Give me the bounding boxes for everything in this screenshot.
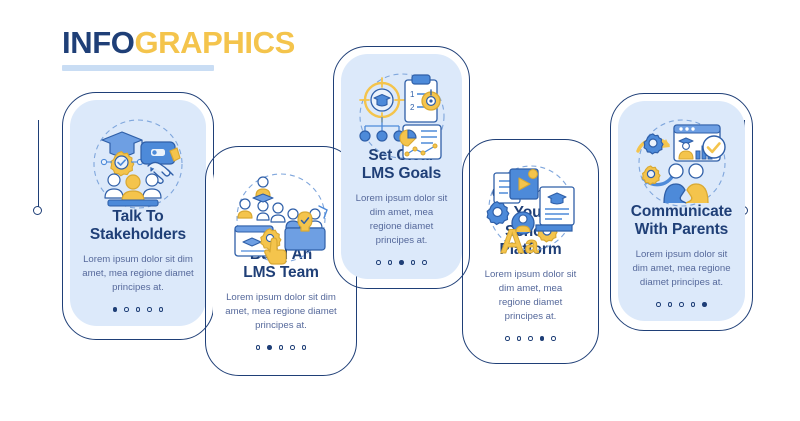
page-title: INFOGRAPHICS — [62, 27, 295, 71]
card-inner: 1 2 — [341, 54, 462, 279]
progress-dot[interactable] — [302, 345, 307, 350]
progress-dot[interactable] — [656, 302, 661, 307]
progress-dot[interactable] — [136, 307, 141, 312]
user-avatar-icon — [256, 177, 270, 196]
progress-dot[interactable] — [505, 336, 510, 341]
progress-dot[interactable] — [411, 260, 416, 265]
progress-dots-3[interactable] — [376, 260, 427, 265]
svg-text:1: 1 — [410, 90, 415, 99]
people-group-icon — [105, 174, 161, 206]
connector-left — [32, 120, 52, 230]
progress-dots-2[interactable] — [256, 345, 307, 350]
progress-dot[interactable] — [679, 302, 684, 307]
progress-dots-1[interactable] — [113, 307, 164, 312]
refresh-gears-icon — [638, 134, 674, 185]
card-illustration-3: 1 2 — [350, 68, 454, 141]
progress-dot[interactable] — [399, 260, 404, 265]
progress-dot[interactable] — [540, 336, 545, 341]
progress-dot[interactable] — [668, 302, 673, 307]
progress-dot[interactable] — [528, 336, 533, 341]
progress-dot[interactable] — [267, 345, 272, 350]
infographic-canvas: INFOGRAPHICS — [0, 0, 800, 421]
svg-text:2: 2 — [410, 103, 415, 112]
progress-dots-5[interactable] — [656, 302, 707, 307]
progress-dot[interactable] — [388, 260, 393, 265]
progress-dot[interactable] — [279, 345, 284, 350]
progress-dot[interactable] — [691, 302, 696, 307]
progress-dot[interactable] — [290, 345, 295, 350]
play-media-icon — [494, 169, 538, 203]
title-info: INFO — [62, 25, 134, 60]
progress-dot[interactable] — [517, 336, 522, 341]
user-avatar-icon — [271, 203, 285, 222]
connector-left-endpoint — [33, 206, 42, 215]
diploma-icon — [536, 187, 574, 231]
step-card-5[interactable]: Communicate With Parents Lorem ipsum dol… — [610, 93, 753, 331]
parents-icon — [664, 164, 708, 203]
target-graduation-icon — [360, 78, 404, 122]
step-card-4[interactable]: A a — [462, 139, 599, 364]
svg-text:A: A — [500, 223, 525, 259]
card-illustration-5 — [626, 115, 738, 197]
progress-dot[interactable] — [113, 307, 118, 312]
check-circle-icon — [703, 136, 725, 158]
card-inner: Build An LMS Team Lorem ipsum dolor sit … — [213, 154, 349, 364]
svg-text:a: a — [525, 232, 539, 259]
graduation-cap-icon — [253, 194, 273, 220]
card-inner: Talk To Stakeholders Lorem ipsum dolor s… — [70, 100, 206, 326]
progress-dot[interactable] — [256, 345, 261, 350]
step-card-3[interactable]: 1 2 — [333, 46, 470, 289]
card-inner: A a — [470, 147, 591, 355]
card-illustration-2 — [223, 168, 339, 240]
card-title-line2: With Parents — [635, 221, 728, 238]
title-underline — [62, 65, 214, 71]
progress-dot[interactable] — [702, 302, 707, 307]
progress-dot[interactable] — [124, 307, 129, 312]
card-title-line2: Stakeholders — [90, 226, 186, 243]
card-body-1: Lorem ipsum dolor sit dim amet, mea regi… — [82, 253, 194, 295]
card-body-5: Lorem ipsum dolor sit dim amet, mea regi… — [630, 248, 733, 290]
step-card-1[interactable]: Talk To Stakeholders Lorem ipsum dolor s… — [62, 92, 214, 340]
progress-dot[interactable] — [376, 260, 381, 265]
gear-icon — [487, 202, 509, 225]
card-inner: Communicate With Parents Lorem ipsum dol… — [618, 101, 745, 321]
card-body-4: Lorem ipsum dolor sit dim amet, mea regi… — [482, 268, 579, 324]
card-body-3: Lorem ipsum dolor sit dim amet, mea regi… — [353, 192, 450, 248]
user-avatar-icon — [238, 199, 252, 218]
progress-dot[interactable] — [147, 307, 152, 312]
card-illustration-4: A a — [478, 161, 584, 179]
card-illustration-1 — [80, 114, 196, 202]
progress-dot[interactable] — [159, 307, 164, 312]
progress-dot[interactable] — [551, 336, 556, 341]
org-tree-icon — [360, 117, 404, 141]
progress-dots-4[interactable] — [505, 336, 556, 341]
progress-dot[interactable] — [422, 260, 427, 265]
title-graphics: GRAPHICS — [134, 25, 294, 60]
card-body-2: Lorem ipsum dolor sit dim amet, mea regi… — [225, 291, 337, 333]
